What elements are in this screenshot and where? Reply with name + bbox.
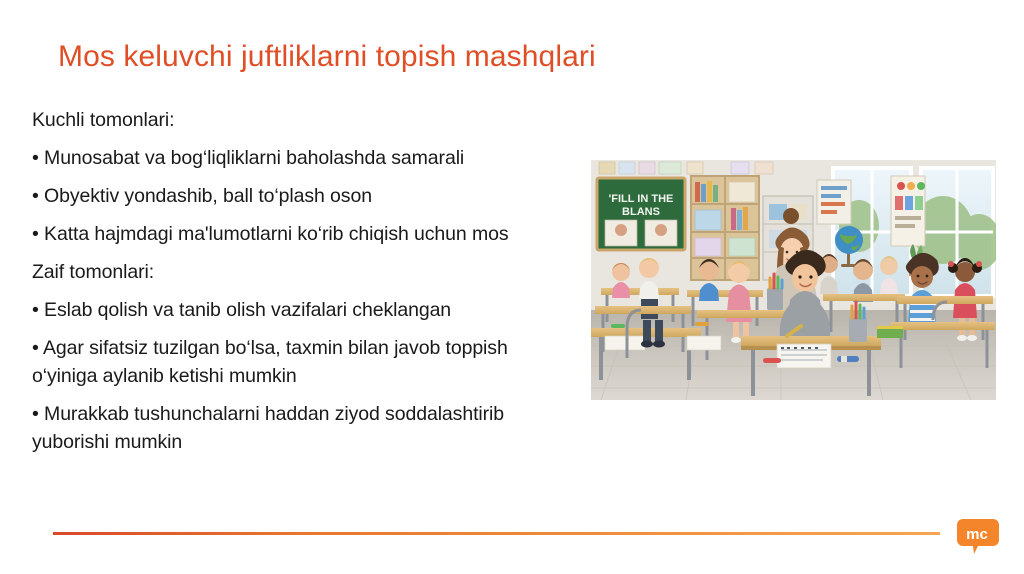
strengths-bullet-1: • Munosabat va bog‘liqliklarni baholashd…: [32, 144, 577, 172]
strengths-bullet-2: • Obyektiv yondashib, ball to‘plash oson: [32, 182, 577, 210]
classroom-picture: 'FILL IN THE BLANS: [591, 160, 996, 400]
mc-logo[interactable]: mc: [956, 518, 1000, 556]
footer-divider: [53, 532, 940, 535]
body-text-block: Kuchli tomonlari: • Munosabat va bog‘liq…: [32, 106, 577, 466]
weaknesses-bullet-1: • Eslab qolish va tanib olish vazifalari…: [32, 296, 577, 324]
weaknesses-bullet-3: • Murakkab tushunchalarni haddan ziyod s…: [32, 400, 577, 456]
classroom-illustration: 'FILL IN THE BLANS: [591, 160, 996, 400]
chalkboard-line-2: BLANS: [622, 206, 660, 218]
slide-canvas: Mos keluvchi juftliklarni topish mashqla…: [0, 0, 1024, 574]
weaknesses-heading: Zaif tomonlari:: [32, 258, 577, 286]
weaknesses-bullet-2: • Agar sifatsiz tuzilgan bo‘lsa, taxmin …: [32, 334, 577, 390]
mc-logo-text: mc: [966, 526, 988, 543]
mc-logo-icon: mc: [956, 518, 1000, 556]
strengths-heading: Kuchli tomonlari:: [32, 106, 577, 134]
chalkboard-line-1: 'FILL IN THE: [609, 193, 674, 205]
strengths-bullet-3: • Katta hajmdagi ma'lumotlarni ko‘rib ch…: [32, 220, 577, 248]
slide-title: Mos keluvchi juftliklarni topish mashqla…: [58, 40, 778, 74]
